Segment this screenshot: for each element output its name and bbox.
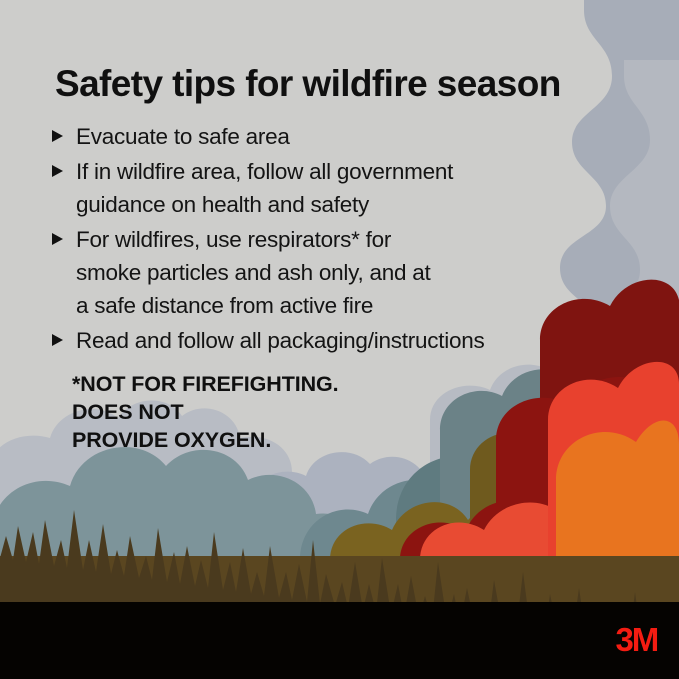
brand-logo-3m: 3M: [616, 621, 657, 659]
list-item-line: guidance on health and safety: [76, 188, 582, 221]
safety-tips-list: Evacuate to safe area If in wildfire are…: [52, 120, 582, 359]
page-title: Safety tips for wildfire season: [55, 63, 561, 105]
triangle-right-icon: [52, 120, 76, 142]
disclaimer-text: *NOT FOR FIREFIGHTING. DOES NOT PROVIDE …: [72, 370, 339, 454]
list-item: If in wildfire area, follow all governme…: [52, 155, 582, 221]
list-item-line: For wildfires, use respirators* for: [76, 223, 582, 256]
disclaimer-line: PROVIDE OXYGEN.: [72, 426, 339, 454]
triangle-right-icon: [52, 155, 76, 177]
list-item: For wildfires, use respirators* for smok…: [52, 223, 582, 322]
list-item-line: smoke particles and ash only, and at: [76, 256, 582, 289]
triangle-right-icon: [52, 223, 76, 245]
list-item-line: Evacuate to safe area: [76, 120, 582, 153]
list-item-line: a safe distance from active fire: [76, 289, 582, 322]
wildfire-safety-poster: Safety tips for wildfire season Evacuate…: [0, 0, 679, 679]
list-item: Read and follow all packaging/instructio…: [52, 324, 582, 357]
list-item-line: If in wildfire area, follow all governme…: [76, 155, 582, 188]
disclaimer-line: DOES NOT: [72, 398, 339, 426]
disclaimer-line: *NOT FOR FIREFIGHTING.: [72, 370, 339, 398]
list-item: Evacuate to safe area: [52, 120, 582, 153]
list-item-line: Read and follow all packaging/instructio…: [76, 324, 582, 357]
triangle-right-icon: [52, 324, 76, 346]
